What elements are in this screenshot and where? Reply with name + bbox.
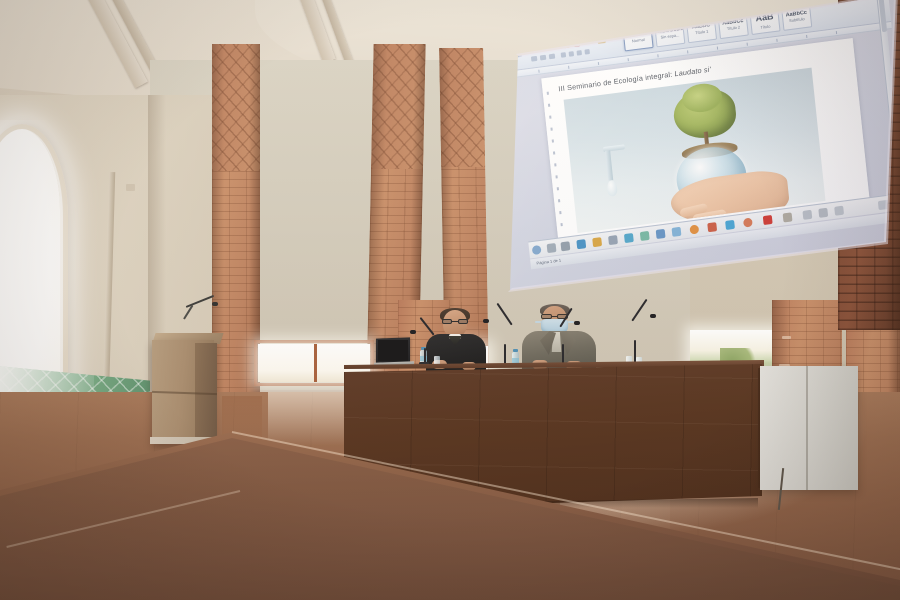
faucet-spout xyxy=(605,150,613,180)
style-gallery-item-titulo[interactable]: AaB Título xyxy=(749,6,780,35)
font-size-box[interactable] xyxy=(575,32,589,39)
bullets-icon[interactable] xyxy=(531,56,537,62)
water-drop-icon xyxy=(606,180,618,197)
photos-icon[interactable] xyxy=(640,231,650,241)
firefox-icon[interactable] xyxy=(689,224,699,234)
projection-screen: AaBbCcDd Normal AaBbCcDd Sin espa... AaB… xyxy=(488,0,900,294)
style-name: Título xyxy=(760,23,770,29)
status-bar-text: Página 1 de 1 xyxy=(536,257,561,265)
paste-icon[interactable] xyxy=(510,42,518,50)
ribbon-tab-insertar[interactable] xyxy=(556,20,579,30)
store-icon[interactable] xyxy=(608,235,618,245)
align-left-icon[interactable] xyxy=(561,52,566,58)
eyeglasses-icon xyxy=(442,319,468,324)
cortana-icon[interactable] xyxy=(560,241,570,251)
style-name: Sin espa... xyxy=(660,33,679,40)
display-panel xyxy=(760,366,858,490)
style-name: Título 1 xyxy=(695,29,709,36)
ribbon-tab-formato[interactable] xyxy=(605,14,626,24)
ribbon-tab-revisar[interactable] xyxy=(629,11,650,21)
font-name-box[interactable] xyxy=(529,34,571,44)
ribbon-tab-inicio[interactable] xyxy=(534,24,553,33)
music-icon[interactable] xyxy=(656,229,666,239)
mail-icon[interactable] xyxy=(624,233,634,243)
justify-icon[interactable] xyxy=(584,49,589,55)
shield-icon[interactable] xyxy=(672,227,682,237)
bottle-label xyxy=(512,358,519,363)
window-mullion xyxy=(314,344,317,382)
microphone-head xyxy=(212,302,218,306)
app-icon[interactable] xyxy=(802,210,812,220)
folder-icon[interactable] xyxy=(783,212,793,222)
person-lay-speaker xyxy=(522,306,596,372)
app-icon[interactable] xyxy=(818,208,828,218)
acrobat-icon[interactable] xyxy=(763,215,773,225)
style-name: Subtítulo xyxy=(789,17,805,24)
display-panel-seam xyxy=(806,366,808,490)
explorer-icon[interactable] xyxy=(592,237,602,247)
ribbon-tab-diseno[interactable] xyxy=(581,17,602,27)
style-gallery-item-titulo-2[interactable]: AaBbCc Título 2 xyxy=(717,11,748,40)
numbering-icon[interactable] xyxy=(540,55,546,61)
align-right-icon[interactable] xyxy=(577,50,582,56)
start-icon[interactable] xyxy=(532,245,542,255)
app-icon[interactable] xyxy=(834,206,844,216)
style-name: Título 2 xyxy=(727,25,741,32)
drinking-glass xyxy=(434,356,440,365)
brick-nub xyxy=(782,336,791,339)
ribbon-tab-archivo[interactable] xyxy=(510,27,531,37)
powerpoint-icon[interactable] xyxy=(707,222,717,232)
multilevel-list-icon[interactable] xyxy=(549,54,555,60)
search-icon[interactable] xyxy=(547,243,557,253)
bottle-cap xyxy=(513,349,518,352)
wall-junction-box xyxy=(126,184,135,191)
chrome-icon[interactable] xyxy=(743,218,753,228)
edge-icon[interactable] xyxy=(576,239,586,249)
conference-hall-photo: AaBbCcDd Normal AaBbCcDd Sin espa... AaB… xyxy=(0,0,900,600)
align-center-icon[interactable] xyxy=(569,51,574,57)
style-gallery-item-subtitulo[interactable]: AaBbCc Subtítulo xyxy=(781,2,812,31)
mask-strap xyxy=(535,321,541,323)
laptop-display xyxy=(378,340,408,361)
ribbon-tab-vista[interactable] xyxy=(653,9,670,18)
skype-icon[interactable] xyxy=(725,220,735,230)
